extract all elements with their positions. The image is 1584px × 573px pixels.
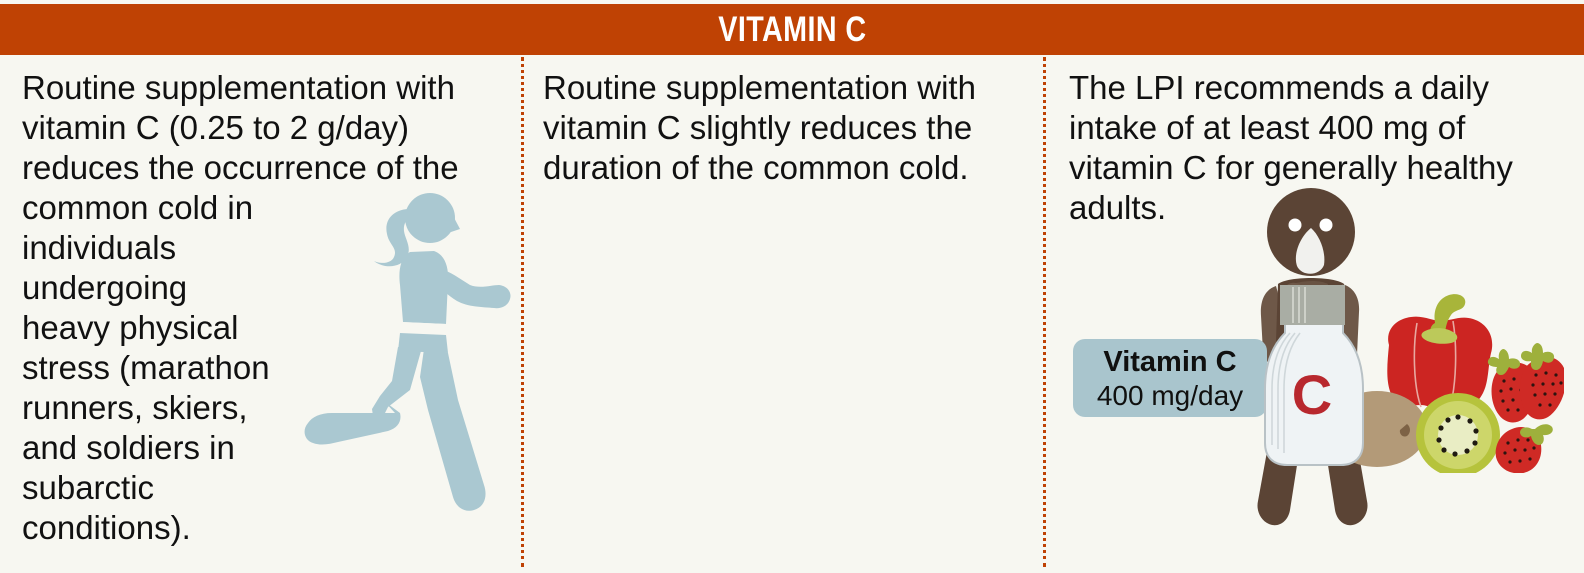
column-recommendation-text: The LPI recommends a daily intake of at …: [1069, 68, 1574, 228]
dosage-badge-value: 400 mg/day: [1073, 379, 1267, 413]
strawberry-icon: [1496, 424, 1553, 473]
column-recommendation: The LPI recommends a daily intake of at …: [1043, 55, 1584, 573]
column-duration-text: Routine supplementation with vitamin C s…: [543, 68, 1029, 188]
supplement-bottle-and-produce-icon: Vitamin C 400 mg/day: [1061, 215, 1581, 425]
column-occurrence: Routine supplementation with vitamin C (…: [0, 55, 521, 573]
infographic-root: VITAMIN C Routine supplementation with v…: [0, 0, 1584, 573]
bell-pepper-icon: [1387, 294, 1492, 413]
running-woman-icon: [288, 185, 513, 535]
dosage-badge-title: Vitamin C: [1073, 345, 1267, 379]
header-banner: VITAMIN C: [0, 4, 1584, 55]
page-title: VITAMIN C: [718, 10, 866, 50]
strawberry-icon: [1520, 343, 1564, 419]
column-duration: Routine supplementation with vitamin C s…: [521, 55, 1043, 573]
supplement-bottle-icon: C: [1247, 275, 1377, 470]
bottle-label-letter: C: [1247, 367, 1377, 423]
columns-container: Routine supplementation with vitamin C (…: [0, 55, 1584, 573]
dosage-badge: Vitamin C 400 mg/day: [1073, 339, 1267, 417]
produce-cluster: [1349, 293, 1564, 473]
